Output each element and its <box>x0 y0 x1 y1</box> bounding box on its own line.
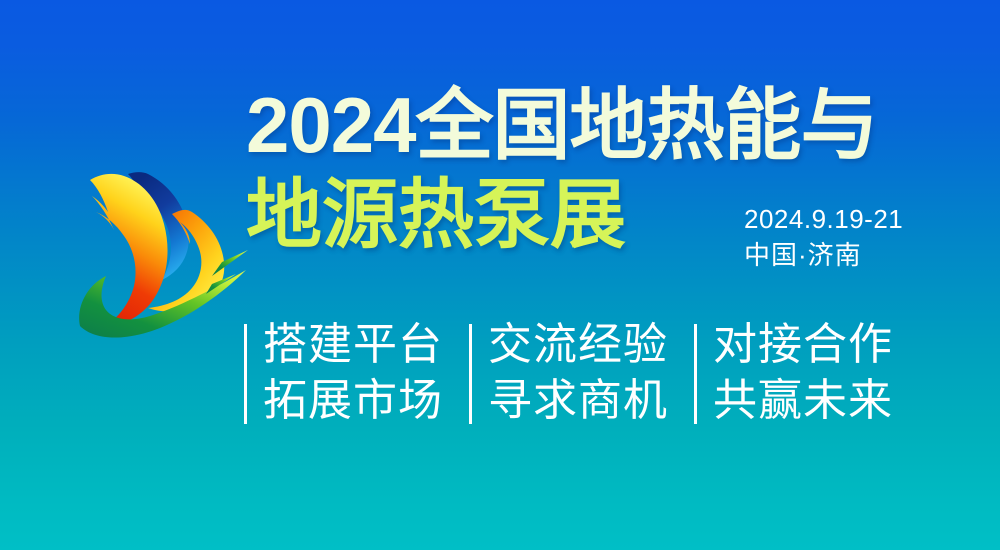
slogan-3-line-1: 对接合作 <box>713 318 893 372</box>
slogan-2-line-2: 寻求商机 <box>488 374 668 428</box>
event-banner: 2024全国地热能与 地源热泵展 2024.9.19-21 中国·济南 搭建平台… <box>0 0 1000 550</box>
slogan-group-2: 交流经验 寻求商机 <box>469 318 668 428</box>
slogan-group-3: 对接合作 共赢未来 <box>694 318 893 428</box>
event-meta: 2024.9.19-21 中国·济南 <box>744 203 903 271</box>
slogan-2-line-1: 交流经验 <box>488 318 668 372</box>
slogan-group-1: 搭建平台 拓展市场 <box>244 318 443 428</box>
slogan-text-2: 交流经验 寻求商机 <box>488 318 668 428</box>
event-date: 2024.9.19-21 <box>744 203 903 235</box>
slogan-divider-icon <box>694 324 697 424</box>
slogan-text-1: 搭建平台 拓展市场 <box>263 318 443 428</box>
slogan-1-line-1: 搭建平台 <box>263 318 443 372</box>
slogan-divider-icon <box>244 324 247 424</box>
title-line-1: 2024全国地热能与 <box>246 82 926 168</box>
slogan-divider-icon <box>469 324 472 424</box>
slogan-1-line-2: 拓展市场 <box>263 374 443 428</box>
slogan-row: 搭建平台 拓展市场 交流经验 寻求商机 对接合作 共赢未来 <box>244 318 893 428</box>
slogan-text-3: 对接合作 共赢未来 <box>713 318 893 428</box>
slogan-3-line-2: 共赢未来 <box>713 374 893 428</box>
event-city: 中国·济南 <box>744 239 903 271</box>
geothermal-flame-sail-logo <box>72 158 262 338</box>
